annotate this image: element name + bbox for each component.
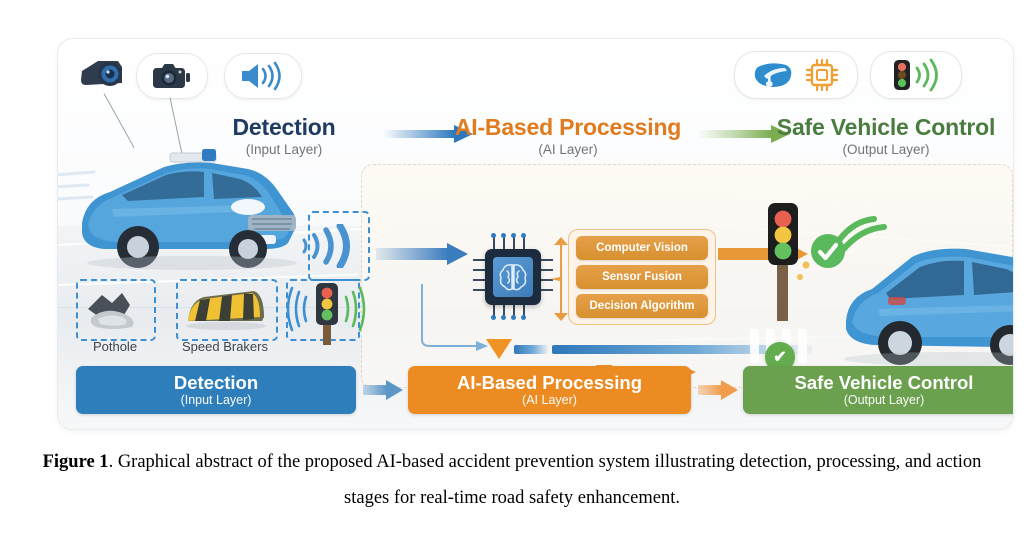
band-arrow-ai-to-output [698, 380, 738, 400]
figure-caption: Figure 1. Graphical abstract of the prop… [40, 444, 984, 516]
hazard-label-speed-brakers: Speed Brakers [168, 339, 282, 354]
dashcam-icon [78, 55, 132, 93]
traffic-signal-pill[interactable] [870, 51, 962, 99]
sound-sensor-pill[interactable] [224, 53, 302, 99]
stage-header-ai: AI-Based Processing (AI Layer) [418, 115, 718, 157]
band-safe-vehicle-control[interactable]: Safe Vehicle Control (Output Layer) [743, 366, 1014, 414]
band-detection[interactable]: Detection (Input Layer) [76, 366, 356, 414]
microchip-icon [804, 58, 840, 92]
flow-branch-line [418, 282, 488, 354]
ai-modules-panel: Computer Vision Sensor Fusion Decision A… [568, 229, 716, 325]
flow-marker-down [486, 339, 512, 359]
band-title: AI-Based Processing [457, 373, 642, 392]
stage-header-output: Safe Vehicle Control (Output Layer) [758, 115, 1014, 157]
figure-caption-text: . Graphical abstract of the proposed AI-… [109, 452, 982, 508]
pothole-icon [82, 285, 146, 333]
detection-box-vehicle-sensor [308, 211, 370, 281]
figure-card: Detection (Input Layer) AI-Based Process… [57, 38, 1014, 430]
stage-title: Detection [194, 115, 374, 139]
camera-icon [151, 61, 193, 91]
output-actuator-pill[interactable] [734, 51, 858, 99]
band-subtitle: (AI Layer) [522, 393, 577, 407]
traffic-light-waves-icon [888, 58, 944, 92]
stage-title: Safe Vehicle Control [758, 115, 1014, 139]
roadside-traffic-light-icon [284, 275, 380, 351]
band-subtitle: (Input Layer) [181, 393, 252, 407]
stage-subtitle: (Output Layer) [758, 142, 1014, 157]
stage-title: AI-Based Processing [418, 115, 718, 139]
brake-pedal-icon [752, 59, 796, 91]
flow-bar-segment [514, 345, 548, 354]
speed-bump-icon [182, 287, 270, 331]
band-ai-processing[interactable]: AI-Based Processing (AI Layer) [408, 366, 691, 414]
ai-module-decision-algorithm[interactable]: Decision Algorithm [576, 294, 708, 318]
ai-module-sensor-fusion[interactable]: Sensor Fusion [576, 265, 708, 289]
band-subtitle: (Output Layer) [844, 393, 925, 407]
speaker-waves-icon [238, 61, 288, 91]
camera-icon-pill[interactable] [136, 53, 208, 99]
brain-icon [493, 257, 533, 297]
band-arrow-detection-to-ai [363, 380, 403, 400]
figure-caption-label: Figure 1 [43, 452, 109, 472]
chip-to-modules-connectors [548, 235, 572, 323]
flow-arrow-input-to-ai [376, 243, 468, 265]
ai-module-computer-vision[interactable]: Computer Vision [576, 236, 708, 260]
band-title: Safe Vehicle Control [795, 373, 974, 392]
stage-subtitle: (AI Layer) [418, 142, 718, 157]
hazard-label-pothole: Pothole [72, 339, 158, 354]
band-title: Detection [174, 373, 258, 392]
